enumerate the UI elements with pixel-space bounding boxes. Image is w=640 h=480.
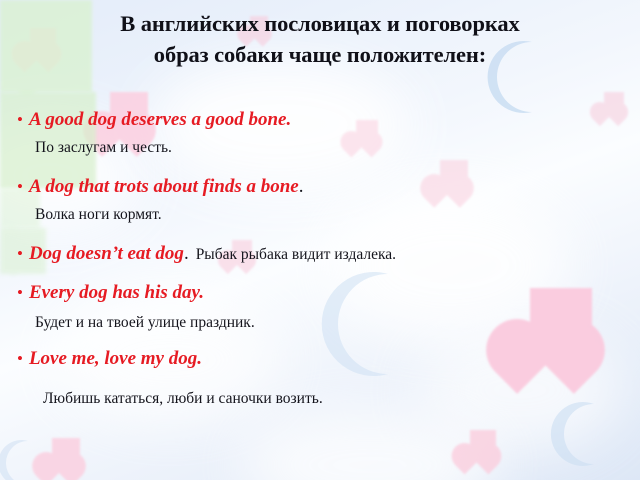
slide-canvas: В английских пословицах и поговорках обр… <box>0 0 640 480</box>
proverb-phrase: Love me, love my dog. <box>29 348 202 369</box>
proverb-block: •Every dog has his day. Будет и на твоей… <box>0 281 640 333</box>
page-title: В английских пословицах и поговорках обр… <box>50 8 590 70</box>
proverb-punctuation: . <box>299 176 304 197</box>
proverb-block: •A dog that trots about finds a bone. Во… <box>0 175 640 225</box>
bullet-icon: • <box>17 110 29 129</box>
proverb-translation-russian: Любишь кататься, люби и саночки возить. <box>0 388 640 409</box>
bullet-icon: • <box>17 244 29 263</box>
proverb-block: •Dog doesn’t eat dog.Рыбак рыбака видит … <box>0 242 640 267</box>
bullet-icon: • <box>17 349 29 368</box>
proverb-block: •Love me, love my dog. Любишь кататься, … <box>0 347 640 409</box>
proverb-phrase: A good dog deserves a good bone. <box>29 109 291 130</box>
proverb-text-english: •Love me, love my dog. <box>0 347 640 371</box>
proverb-translation-russian: Волка ноги кормят. <box>0 204 640 225</box>
bullet-icon: • <box>17 177 29 196</box>
proverb-translation-russian: По заслугам и честь. <box>0 137 640 158</box>
proverb-punctuation: . <box>184 243 189 264</box>
bullet-icon: • <box>17 283 29 302</box>
proverb-text-english: •Every dog has his day. <box>0 281 640 305</box>
proverb-phrase: Every dog has his day. <box>29 282 204 303</box>
proverb-text-english: •A dog that trots about finds a bone. <box>0 175 640 199</box>
proverb-text-english: •Dog doesn’t eat dog.Рыбак рыбака видит … <box>0 242 640 267</box>
proverb-text-english: •A good dog deserves a good bone. <box>0 108 640 132</box>
slide-content: В английских пословицах и поговорках обр… <box>0 0 640 480</box>
proverb-phrase: Dog doesn’t eat dog <box>29 243 184 264</box>
proverb-translation-russian: Будет и на твоей улице праздник. <box>0 312 640 333</box>
proverb-phrase: A dog that trots about finds a bone <box>29 176 299 197</box>
page-title-line-1: В английских пословицах и поговорках <box>50 8 590 39</box>
proverb-block: •A good dog deserves a good bone. По зас… <box>0 108 640 158</box>
page-title-line-2: образ собаки чаще положителен: <box>50 39 590 70</box>
proverb-translation-russian: Рыбак рыбака видит издалека. <box>189 246 396 263</box>
